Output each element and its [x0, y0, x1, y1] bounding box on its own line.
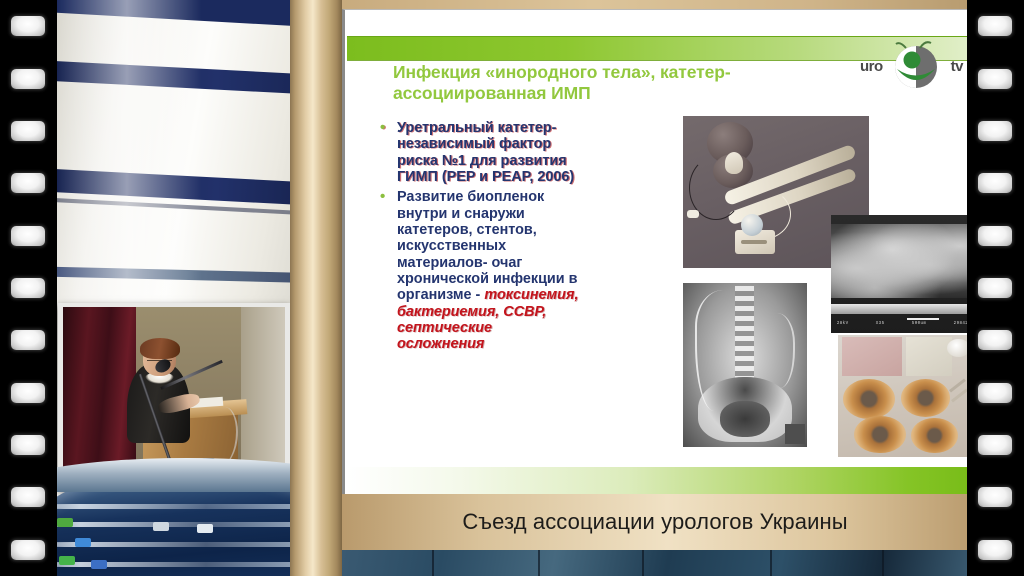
list-item: Уретральный катетер- независимый фактор … [375, 120, 675, 185]
film-perforation [978, 435, 1012, 455]
uro-tv-logo: uro tv [860, 36, 964, 94]
slide-top-border-strip [342, 0, 968, 9]
film-perforation [11, 330, 45, 350]
wall-panel [241, 307, 285, 479]
video-frame: Инфекция «инородного тела», катетер- асс… [0, 0, 1024, 576]
bullet-line: хронической инфекции в [397, 271, 675, 287]
culture-colony [843, 379, 895, 419]
catheter-shadow [765, 313, 795, 388]
slide-bullet-list: Уретральный катетер- независимый фактор … [375, 120, 675, 357]
studio-desk [57, 456, 313, 576]
culture-colony [854, 416, 906, 454]
bullet-line: риска №1 для развития [397, 153, 675, 169]
bullet-line-with-emphasis: организме - токсинемия, [397, 287, 675, 303]
culture-colony [911, 418, 957, 453]
bullet-line-prefix: организме - [397, 287, 484, 303]
film-perforation [11, 121, 45, 141]
sem-bar-label: 500um [912, 322, 927, 326]
film-perforation [978, 69, 1012, 89]
desk-chip [91, 560, 107, 569]
bullet-line: искусственных [397, 238, 675, 254]
film-perforation [11, 278, 45, 298]
backdrop-stripe [57, 0, 290, 28]
slide-title: Инфекция «инородного тела», катетер- асс… [393, 62, 913, 105]
sem-mag: X35 [876, 322, 885, 326]
film-perforation [11, 69, 45, 89]
gold-column-divider [290, 0, 342, 576]
backdrop-stripe [57, 60, 290, 96]
slide-title-line2: ассоциированная ИМП [393, 83, 913, 104]
sem-serial: 298420 [954, 322, 968, 326]
film-strip-left [0, 0, 57, 576]
desk-accent-line [57, 522, 313, 527]
film-perforation [11, 383, 45, 403]
biofilm-deposit [831, 224, 968, 297]
strip-seam [642, 550, 644, 576]
culture-colony [901, 379, 950, 417]
speaker-hair [140, 338, 180, 359]
event-caption-band: Съезд ассоциации урологов Украины [342, 494, 968, 550]
bullet-line: материалов- очаг [397, 255, 675, 271]
catheter-shadow [695, 290, 742, 411]
slide-bottom-green-bar [347, 467, 968, 494]
xray-marker [785, 424, 805, 444]
specimen-tray [906, 337, 952, 376]
bullet-line: ГИМП (PEP и PEAP, 2006) [397, 169, 675, 185]
film-perforation [11, 16, 45, 36]
film-perforation [978, 383, 1012, 403]
emphasis-line: бактериемия, ССВР, [397, 304, 675, 320]
film-perforation [978, 226, 1012, 246]
catheter-surface [831, 304, 968, 315]
film-perforation [978, 487, 1012, 507]
film-perforation [11, 173, 45, 193]
desk-accent-line [57, 504, 313, 509]
film-perforation [978, 330, 1012, 350]
wire-endcap [687, 210, 699, 218]
desk-chip [57, 518, 73, 527]
connector-bulb [741, 214, 763, 236]
film-perforation [11, 487, 45, 507]
logo-mascot-glyph [895, 42, 937, 88]
event-caption-text: Съезд ассоциации урологов Украины [462, 509, 847, 535]
strip-seam [432, 550, 434, 576]
sem-scale-labels: 28kV X35 500um 298420 [837, 318, 968, 331]
studio-floor-strip [342, 550, 968, 576]
specimen-tray [842, 337, 902, 376]
emphasis-word: токсинемия, [484, 287, 578, 303]
emphasis-line: септические [397, 320, 675, 336]
bullet-line: катетеров, стентов, [397, 222, 675, 238]
emphasis-line: осложнения [397, 336, 675, 352]
strip-seam [882, 550, 884, 576]
desk-rim [57, 458, 313, 492]
abdominal-xray [683, 283, 807, 447]
film-strip-right [967, 0, 1024, 576]
bullet-line: независимый фактор [397, 136, 675, 152]
film-perforation [978, 278, 1012, 298]
film-perforation [11, 226, 45, 246]
film-perforation [11, 540, 45, 560]
sem-voltage: 28kV [837, 322, 849, 326]
list-item: Развитие биопленок внутри и снаружи кате… [375, 189, 675, 352]
desk-chip [197, 524, 213, 533]
photo-content [63, 307, 285, 479]
film-perforation [978, 121, 1012, 141]
strip-seam [538, 550, 540, 576]
dish-lid [947, 339, 968, 357]
desk-chip [75, 538, 91, 547]
film-perforation [978, 540, 1012, 560]
bullet-line: Развитие биопленок [397, 189, 675, 205]
desk-chip [59, 556, 75, 565]
desk-chip [153, 522, 169, 531]
slide-title-line1: Инфекция «инородного тела», катетер- [393, 62, 913, 83]
film-perforation [978, 16, 1012, 36]
film-perforation [978, 173, 1012, 193]
bacterial-culture-plates [838, 335, 968, 457]
backdrop-stripe [57, 266, 290, 283]
presentation-slide: Инфекция «инородного тела», катетер- асс… [342, 9, 968, 494]
desk-accent-line [57, 542, 313, 547]
biofilm-sem-micrograph: 28kV X35 500um 298420 [831, 215, 968, 333]
bullet-line: Уретральный катетер- [397, 120, 675, 136]
bullet-line: внутри и снаружи [397, 206, 675, 222]
film-perforation [11, 435, 45, 455]
stage-curtain [63, 307, 136, 479]
strip-seam [770, 550, 772, 576]
connector-slot [741, 240, 767, 244]
